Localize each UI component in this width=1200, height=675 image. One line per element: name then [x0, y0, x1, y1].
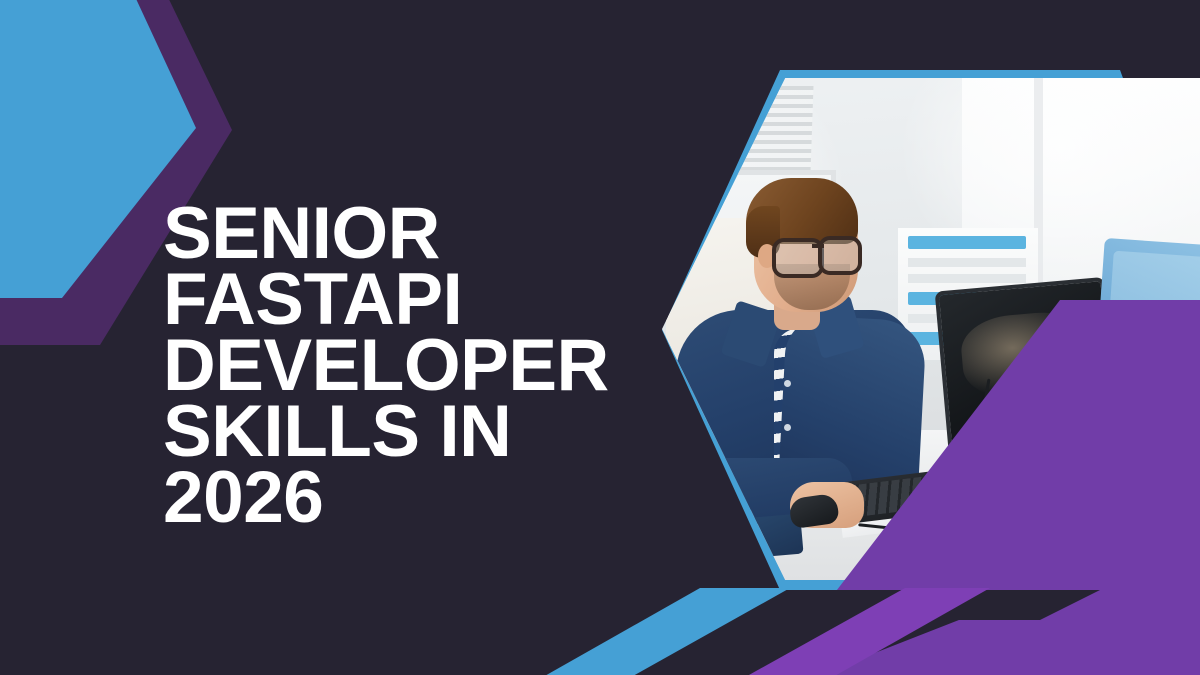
developer-photo: [662, 78, 1200, 580]
forearm-tattoo: [698, 476, 738, 506]
headline-line-4: SKILLS IN: [163, 399, 683, 465]
photo-hexagon-clip: [662, 78, 1200, 580]
tray-tab: [908, 236, 1026, 249]
tray-paper: [908, 258, 1026, 267]
tray-paper: [908, 274, 1026, 283]
poster-canvas: SENIOR FASTAPI DEVELOPER SKILLS IN 2026: [0, 0, 1200, 675]
headphone-earcup: [986, 502, 1030, 552]
eyeglasses-lens-right: [818, 236, 862, 275]
shirt-button: [784, 424, 791, 431]
eyeglasses-bridge: [812, 244, 824, 248]
secondary-monitor-screen: [1098, 251, 1200, 480]
shirt-button: [784, 380, 791, 387]
photo-image: [662, 78, 1200, 580]
headline-line-3: DEVELOPER: [163, 333, 683, 399]
page-title: SENIOR FASTAPI DEVELOPER SKILLS IN 2026: [163, 201, 683, 531]
headline-line-5: 2026: [163, 465, 683, 531]
headline-line-1: SENIOR: [163, 201, 683, 267]
headline-line-2: FASTAPI: [163, 267, 683, 333]
window-blinds-icon: [678, 86, 813, 172]
